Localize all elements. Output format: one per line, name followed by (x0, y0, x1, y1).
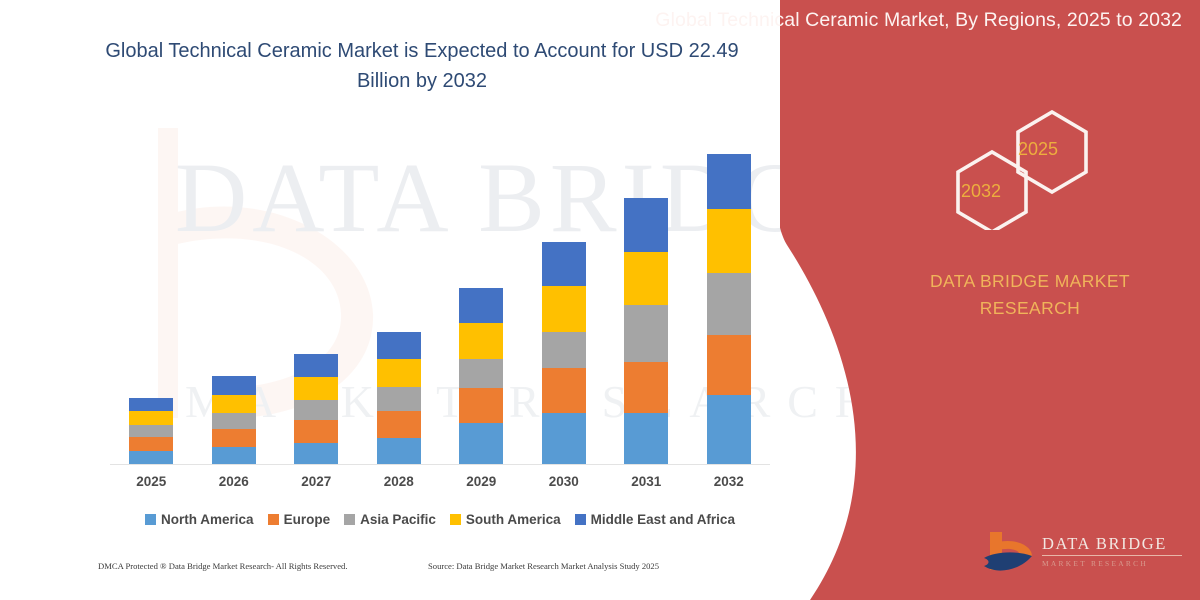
bar-2026 (212, 376, 256, 464)
bar-segment (129, 411, 173, 425)
bar-segment (129, 425, 173, 437)
legend-item[interactable]: South America (450, 512, 561, 527)
bar-2032 (707, 154, 751, 464)
bar-series-container (110, 120, 770, 464)
legend-label: Asia Pacific (360, 512, 436, 527)
x-axis-tick-2027: 2027 (281, 474, 351, 489)
x-axis-labels: 20252026202720282029203020312032 (110, 474, 770, 489)
hexagon-label-2032: 2032 (961, 181, 1001, 202)
legend-item[interactable]: Middle East and Africa (575, 512, 735, 527)
legend-swatch-icon (344, 514, 355, 525)
bar-2030 (542, 242, 586, 464)
bar-2028 (377, 332, 421, 464)
legend-swatch-icon (450, 514, 461, 525)
bar-segment (129, 437, 173, 451)
legend-label: South America (466, 512, 561, 527)
bar-segment (212, 447, 256, 464)
hexagon-group (930, 110, 1120, 230)
bar-segment (624, 305, 668, 362)
bar-segment (707, 154, 751, 209)
panel-title: Global Technical Ceramic Market, By Regi… (28, 6, 1182, 35)
bar-segment (377, 387, 421, 411)
bar-segment (377, 332, 421, 359)
bar-segment (294, 354, 338, 377)
logo-divider (1042, 555, 1182, 556)
legend-label: Middle East and Africa (591, 512, 735, 527)
bar-segment (542, 286, 586, 332)
bar-2025 (129, 398, 173, 464)
bar-segment (707, 335, 751, 395)
bar-segment (459, 388, 503, 423)
bar-segment (459, 423, 503, 464)
hexagon-label-2025: 2025 (1018, 139, 1058, 160)
bar-segment (542, 332, 586, 368)
chart-legend: North AmericaEuropeAsia PacificSouth Ame… (105, 512, 775, 527)
bar-segment (129, 398, 173, 411)
chart-plot-area: 20252026202720282029203020312032 (0, 0, 800, 600)
bar-segment (707, 209, 751, 273)
infographic-root: DATA BRIDGE MARKET RESEARCH Global Techn… (0, 0, 1200, 600)
data-bridge-logo-icon (982, 530, 1038, 582)
logo-subtitle: MARKET RESEARCH (1042, 559, 1190, 568)
bar-2029 (459, 288, 503, 464)
legend-item[interactable]: North America (145, 512, 254, 527)
axis-baseline (110, 464, 770, 465)
bar-segment (212, 395, 256, 413)
x-axis-tick-2031: 2031 (611, 474, 681, 489)
legend-label: North America (161, 512, 254, 527)
bar-segment (212, 376, 256, 395)
bar-segment (377, 438, 421, 464)
bar-segment (294, 420, 338, 443)
bar-segment (294, 443, 338, 464)
x-axis-tick-2028: 2028 (364, 474, 434, 489)
panel-brand-line-2: RESEARCH (900, 295, 1160, 322)
footer-dmca-text: DMCA Protected ® Data Bridge Market Rese… (98, 561, 348, 571)
bar-segment (542, 368, 586, 413)
x-axis-tick-2029: 2029 (446, 474, 516, 489)
panel-brand-line-1: DATA BRIDGE MARKET (900, 268, 1160, 295)
bar-segment (624, 252, 668, 305)
bar-segment (542, 413, 586, 464)
logo-text-block: DATA BRIDGE MARKET RESEARCH (1042, 534, 1190, 568)
x-axis-tick-2026: 2026 (199, 474, 269, 489)
bar-segment (377, 359, 421, 387)
bar-2027 (294, 354, 338, 464)
bar-segment (459, 359, 503, 388)
legend-swatch-icon (575, 514, 586, 525)
legend-swatch-icon (268, 514, 279, 525)
footer-source-text: Source: Data Bridge Market Research Mark… (428, 561, 659, 571)
x-axis-tick-2025: 2025 (116, 474, 186, 489)
bar-segment (624, 362, 668, 413)
bar-segment (459, 288, 503, 323)
logo-title: DATA BRIDGE (1042, 534, 1190, 554)
bar-segment (129, 451, 173, 464)
bar-segment (542, 242, 586, 286)
hexagon-outlines-icon (930, 110, 1120, 230)
legend-item[interactable]: Asia Pacific (344, 512, 436, 527)
bar-segment (624, 413, 668, 464)
bar-segment (294, 400, 338, 420)
legend-swatch-icon (145, 514, 156, 525)
panel-brand: DATA BRIDGE MARKET RESEARCH (900, 268, 1160, 322)
x-axis-tick-2030: 2030 (529, 474, 599, 489)
bar-segment (212, 429, 256, 447)
bar-segment (377, 411, 421, 438)
bar-segment (294, 377, 338, 400)
bar-segment (707, 395, 751, 464)
bar-2031 (624, 198, 668, 464)
legend-label: Europe (284, 512, 331, 527)
bar-segment (459, 323, 503, 359)
legend-item[interactable]: Europe (268, 512, 331, 527)
bar-segment (212, 413, 256, 429)
bar-segment (707, 273, 751, 335)
company-logo[interactable]: DATA BRIDGE MARKET RESEARCH (982, 528, 1190, 584)
x-axis-tick-2032: 2032 (694, 474, 764, 489)
bar-segment (624, 198, 668, 252)
